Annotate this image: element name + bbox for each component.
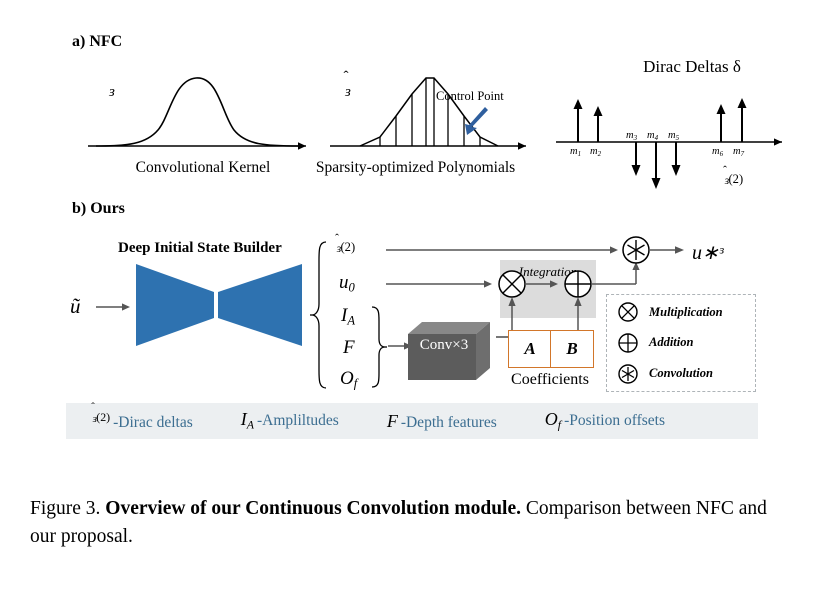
key-row-multiplication: Multiplication (607, 297, 755, 327)
nfc-polynomial-plot (330, 58, 535, 158)
addition-icon (607, 332, 649, 354)
key-row-addition: Addition (607, 328, 755, 358)
input-symbol: ũ (70, 294, 81, 319)
delta-label-m7: m7 (733, 146, 744, 158)
key-row-convolution: Convolution (607, 359, 755, 389)
legend-item-of: Of -Position offsets (545, 409, 665, 432)
output-symbol-kappa2: ᵌ̂(2) (336, 240, 355, 263)
dirac-deltas-title: Dirac Deltas δ (592, 57, 792, 77)
output-symbol-u0: u0 (339, 272, 355, 296)
delta-label-m6: m6 (712, 146, 723, 158)
symbol-legend-bar: ᵌ̂(2) -Dirac deltas IA -Ampliltudes F -D… (66, 403, 758, 439)
output-symbol-f: F (343, 337, 355, 359)
kernel-symbol: ᵌ (108, 82, 114, 110)
encoder-label: Deep Initial State Builder (118, 240, 282, 257)
legend-item-kappa2: ᵌ̂(2) -Dirac deltas (92, 410, 193, 431)
dirac-output-symbol: ᵌ̂(2) (724, 172, 743, 195)
delta-label-m5: m5 (668, 130, 679, 142)
delta-label-m2: m2 (590, 146, 601, 158)
encoder-hourglass (134, 262, 306, 348)
operator-key: Multiplication Addition Convolution (606, 294, 756, 392)
output-symbol-of: Of (340, 368, 357, 392)
key-label-convolution: Convolution (649, 366, 713, 381)
result-label: u∗ᵌ (692, 240, 723, 265)
delta-label-m3: m3 (626, 130, 637, 142)
legend-desc-kappa2: -Dirac deltas (113, 414, 193, 432)
input-arrow-icon (96, 299, 132, 315)
key-label-addition: Addition (649, 335, 693, 350)
key-label-multiplication: Multiplication (649, 305, 723, 320)
caption-bold: Overview of our Continuous Convolution m… (105, 498, 521, 519)
coefficients-caption: Coefficients (496, 371, 604, 389)
control-point-arrow-icon (455, 104, 495, 144)
delta-label-m4: m4 (647, 130, 658, 142)
control-point-annotation: Control Point (436, 89, 504, 104)
figure-caption: Figure 3. Overview of our Continuous Con… (30, 495, 790, 552)
kernel-caption: Convolutional Kernel (88, 159, 318, 177)
convolution-icon (607, 363, 649, 385)
caption-number: Figure 3. (30, 498, 100, 519)
legend-item-ia: IA -Ampliltudes (241, 409, 339, 432)
polynomial-caption: Sparsity-optimized Polynomials (288, 159, 543, 177)
output-symbol-ia: IA (341, 305, 355, 329)
legend-item-f: F -Depth features (387, 411, 497, 432)
nfc-kernel-plot (88, 58, 318, 158)
legend-desc-ia: -Ampliltudes (257, 412, 339, 430)
legend-desc-f: -Depth features (401, 414, 497, 432)
panel-a-title: a) NFC (72, 33, 122, 51)
dirac-deltas-plot (556, 96, 796, 191)
delta-label-m1: m1 (570, 146, 581, 158)
outputs-brace (310, 240, 330, 390)
multiplication-icon (607, 301, 649, 323)
polynomial-symbol: ᵌ̂ (344, 82, 350, 110)
panel-b-title: b) Ours (72, 200, 125, 218)
legend-desc-of: -Position offsets (564, 412, 665, 430)
